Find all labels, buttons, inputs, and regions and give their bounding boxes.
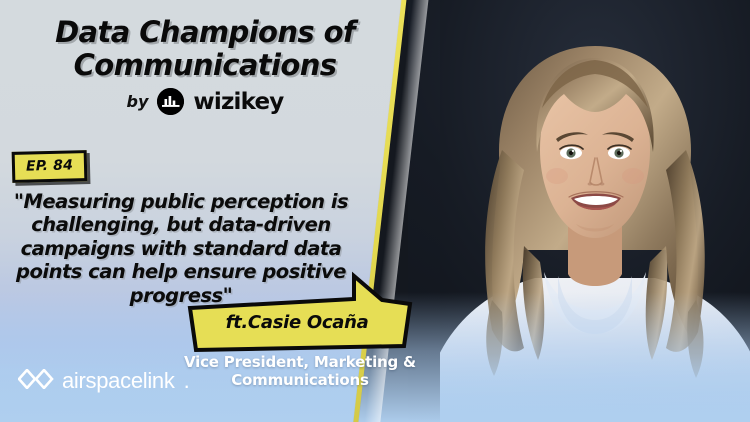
- guest-name-label: ft.Casie Ocaña: [186, 312, 408, 333]
- sponsor-logo: airspacelink .: [18, 368, 190, 394]
- show-title-line-1: Data Champions of: [0, 16, 410, 49]
- by-label: by: [127, 92, 149, 111]
- guest-role-line-1: Vice President, Marketing &: [175, 354, 425, 372]
- episode-badge: EP. 84: [12, 150, 88, 183]
- show-title: Data Champions of Communications: [0, 16, 410, 82]
- show-title-line-2: Communications: [0, 49, 410, 82]
- guest-role: Vice President, Marketing & Communicatio…: [175, 354, 425, 389]
- sponsor-punctuation: .: [184, 368, 190, 394]
- brand-name-label: wizikey: [193, 89, 283, 115]
- airspacelink-double-chevron-icon: [18, 369, 54, 394]
- sponsor-name-label: airspacelink: [62, 368, 175, 394]
- bar-chart-circle-icon: [157, 88, 184, 115]
- guest-role-line-2: Communications: [175, 372, 425, 390]
- podcast-promo-graphic: Data Champions of Communications by wizi…: [0, 0, 750, 422]
- airspacelink-double-chevron-icon-svg: [18, 369, 54, 389]
- guest-name-bubble: ft.Casie Ocaña: [186, 292, 416, 354]
- bar-chart-circle-icon-svg: [157, 88, 184, 115]
- brand-attribution: by wizikey: [0, 88, 410, 115]
- quote-text: "Measuring public perception is challeng…: [6, 190, 356, 307]
- episode-badge-label: EP. 84: [26, 157, 73, 174]
